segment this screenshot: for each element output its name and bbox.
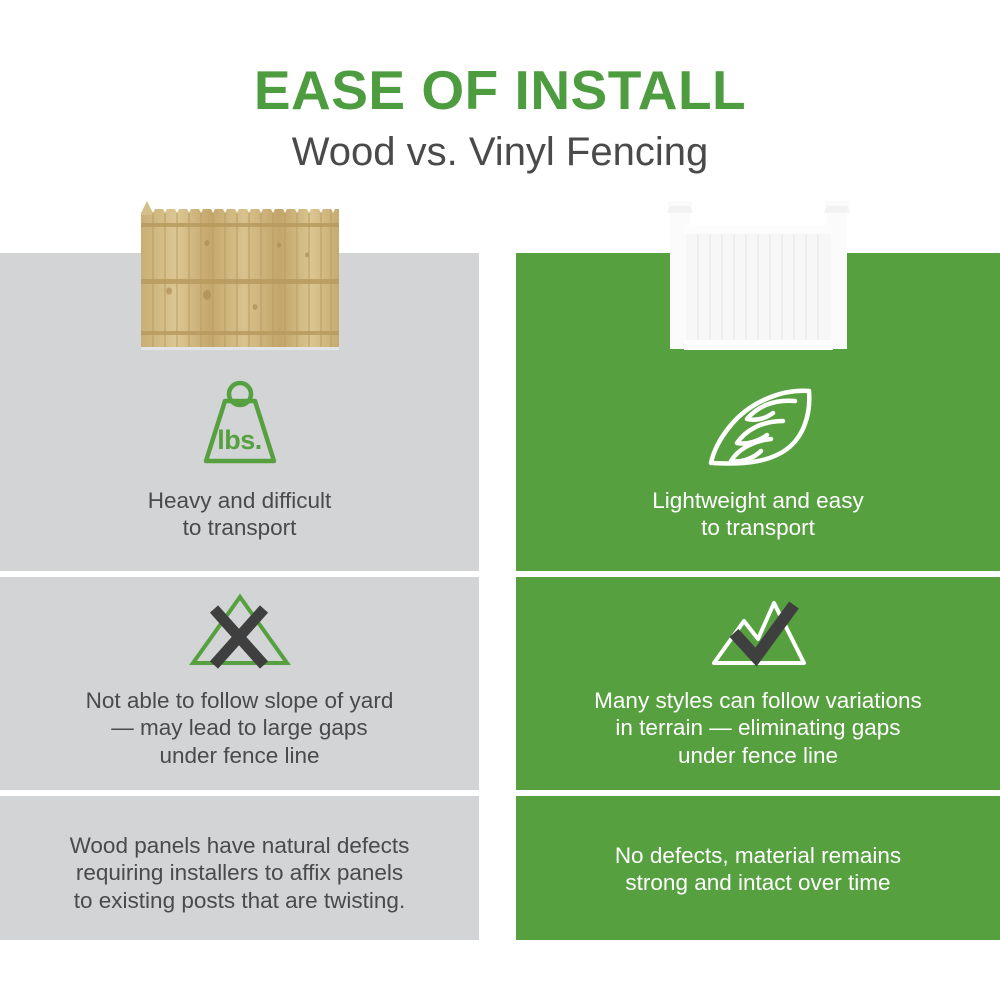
feature-row-slope-vinyl: Many styles can follow variations in ter… (516, 583, 1000, 790)
feature-row-slope-wood: Not able to follow slope of yard — may l… (0, 583, 479, 790)
column-vinyl: Lightweight and easy to transport Many s… (516, 253, 1000, 940)
feature-row-defects-wood: Wood panels have natural defects requiri… (0, 802, 479, 940)
mountain-check-icon (700, 589, 816, 669)
caption-line: under fence line (516, 742, 1000, 769)
caption-line: — may lead to large gaps (0, 714, 479, 741)
caption-line: Wood panels have natural defects (0, 832, 479, 859)
caption-line: Heavy and difficult (0, 487, 479, 514)
feature-caption: Many styles can follow variations in ter… (516, 687, 1000, 769)
caption-line: to existing posts that are twisting. (0, 887, 479, 914)
feature-caption: Heavy and difficult to transport (0, 487, 479, 542)
feature-row-weight-vinyl: Lightweight and easy to transport (516, 373, 1000, 571)
feature-caption: Lightweight and easy to transport (516, 487, 1000, 542)
feature-caption: No defects, material remains strong and … (516, 802, 1000, 897)
caption-line: Not able to follow slope of yard (0, 687, 479, 714)
icon-container: lbs. (0, 373, 479, 469)
row-divider (0, 790, 479, 796)
feature-caption: Wood panels have natural defects requiri… (0, 802, 479, 914)
caption-line: Many styles can follow variations (516, 687, 1000, 714)
icon-container (516, 583, 1000, 669)
triangle-x-icon (186, 591, 294, 669)
infographic-canvas: EASE OF INSTALL Wood vs. Vinyl Fencing (0, 0, 1000, 1000)
caption-line: to transport (516, 514, 1000, 541)
vinyl-fence-svg (656, 195, 861, 355)
page-title: EASE OF INSTALL (0, 62, 1000, 120)
caption-line: under fence line (0, 742, 479, 769)
wood-fence-panel-image (137, 195, 343, 355)
vinyl-fence-panel-image (656, 195, 861, 355)
feature-caption: Not able to follow slope of yard — may l… (0, 687, 479, 769)
wood-fence-svg (137, 195, 343, 355)
weight-icon-label: lbs. (192, 425, 288, 456)
leaf-feather-icon (699, 385, 817, 469)
row-divider (516, 790, 1000, 796)
caption-line: requiring installers to affix panels (0, 859, 479, 886)
row-divider (516, 571, 1000, 577)
caption-line: strong and intact over time (516, 869, 1000, 896)
caption-line: to transport (0, 514, 479, 541)
row-divider (0, 571, 479, 577)
caption-line: No defects, material remains (516, 842, 1000, 869)
column-wood: lbs. Heavy and difficult to transport (0, 253, 479, 940)
icon-container (516, 373, 1000, 469)
caption-line: in terrain — eliminating gaps (516, 714, 1000, 741)
feature-row-defects-vinyl: No defects, material remains strong and … (516, 802, 1000, 940)
feature-row-weight-wood: lbs. Heavy and difficult to transport (0, 373, 479, 571)
icon-container (0, 583, 479, 669)
caption-line: Lightweight and easy (516, 487, 1000, 514)
page-subtitle: Wood vs. Vinyl Fencing (0, 130, 1000, 174)
